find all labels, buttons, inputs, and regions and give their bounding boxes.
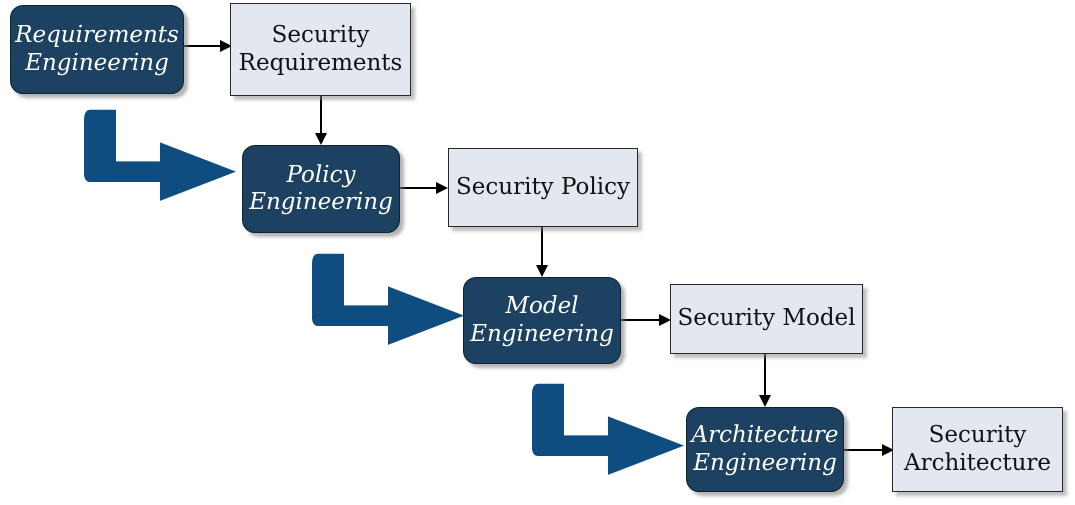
connector-sec-model-to-arch-eng [757,354,773,409]
node-security-model[interactable]: Security Model [670,284,863,354]
node-architecture-engineering[interactable]: Architecture Engineering [686,407,844,492]
node-label-requirements-engineering: Requirements Engineering [11,22,183,76]
node-label-security-policy: Security Policy [449,174,637,201]
node-label-architecture-engineering: Architecture Engineering [687,422,843,476]
connector-model-eng-to-sec-model [621,312,673,328]
bent-arrow-requirements-to-policy [82,112,242,212]
node-label-security-model: Security Model [671,305,862,332]
connector-arch-eng-to-sec-arch [844,442,896,458]
node-security-requirements[interactable]: Security Requirements [230,3,411,96]
node-policy-engineering[interactable]: Policy Engineering [242,145,400,233]
connector-req-eng-to-sec-req [184,38,234,54]
connector-sec-req-to-policy-eng [313,95,329,147]
node-label-policy-engineering: Policy Engineering [243,162,399,216]
node-label-security-architecture: Security Architecture [893,422,1062,476]
bent-arrow-model-to-architecture [530,386,690,486]
connector-sec-policy-to-model-eng [534,227,550,279]
node-model-engineering[interactable]: Model Engineering [463,277,621,364]
node-requirements-engineering[interactable]: Requirements Engineering [10,5,184,94]
connector-policy-eng-to-sec-policy [400,180,450,196]
node-security-architecture[interactable]: Security Architecture [892,407,1063,492]
bent-arrow-policy-to-model [310,256,470,356]
security-engineering-diagram: Requirements Engineering Security Requir… [0,0,1075,505]
node-security-policy[interactable]: Security Policy [448,148,638,227]
node-label-model-engineering: Model Engineering [464,293,620,347]
node-label-security-requirements: Security Requirements [231,22,410,76]
